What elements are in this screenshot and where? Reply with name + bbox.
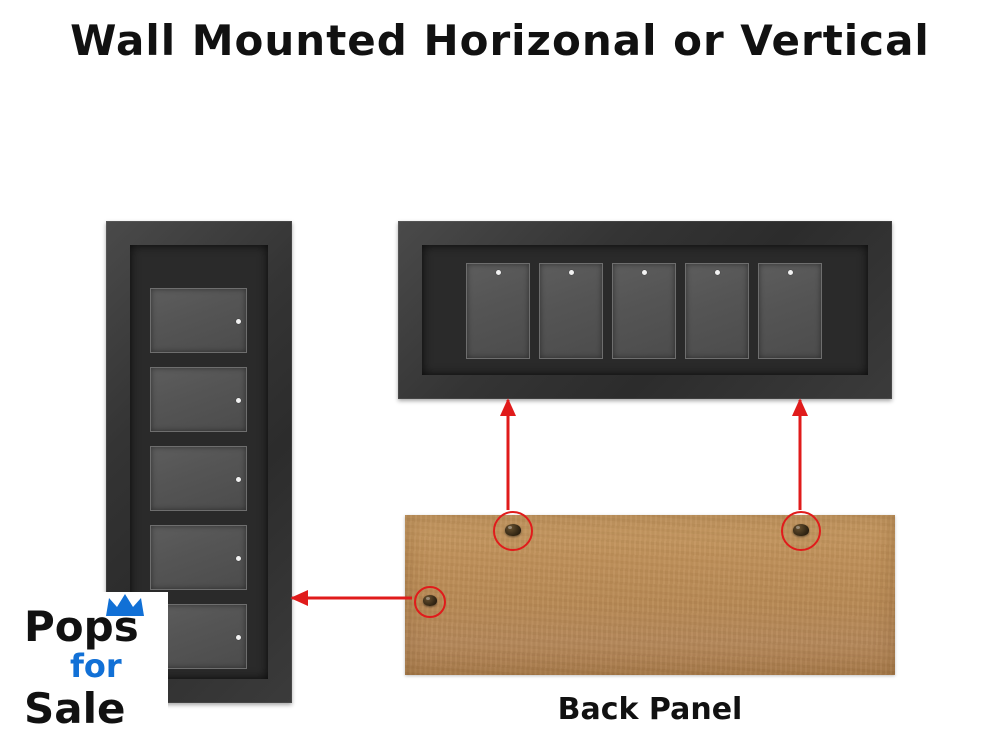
hanger-dot-icon xyxy=(642,270,647,275)
page-title: Wall Mounted Horizonal or Vertical xyxy=(0,16,1000,65)
photo-opening xyxy=(150,367,247,432)
photo-opening xyxy=(539,263,603,359)
back-panel-caption: Back Panel xyxy=(405,692,895,727)
hanger-dot-icon xyxy=(236,319,241,324)
hanger-highlight-center xyxy=(493,511,533,551)
hanger-dot-icon xyxy=(569,270,574,275)
watermark-line-3: Sale xyxy=(24,688,125,730)
watermark-line-1: Pops xyxy=(24,606,139,648)
photo-opening xyxy=(466,263,530,359)
hanger-dot-icon xyxy=(496,270,501,275)
hanger-dot-icon xyxy=(236,556,241,561)
cardboard-texture xyxy=(405,515,895,675)
watermark: Pops for Sale xyxy=(18,592,168,738)
hanger-dot-icon xyxy=(788,270,793,275)
watermark-line-2: for xyxy=(70,650,122,682)
hanger-dot-icon xyxy=(236,398,241,403)
photo-opening xyxy=(150,288,247,353)
hanger-dot-icon xyxy=(236,635,241,640)
hanger-dot-icon xyxy=(715,270,720,275)
horizontal-frame-inner xyxy=(422,245,868,375)
photo-opening xyxy=(612,263,676,359)
hanger-highlight-right xyxy=(781,511,821,551)
photo-opening xyxy=(150,446,247,511)
photo-opening xyxy=(150,525,247,590)
horizontal-picture-frame xyxy=(398,221,892,399)
diagram-canvas: Wall Mounted Horizonal or Vertical xyxy=(0,0,1000,752)
photo-opening xyxy=(685,263,749,359)
photo-opening xyxy=(758,263,822,359)
hanger-dot-icon xyxy=(236,477,241,482)
back-panel xyxy=(405,515,895,675)
hanger-highlight-left xyxy=(414,586,446,618)
